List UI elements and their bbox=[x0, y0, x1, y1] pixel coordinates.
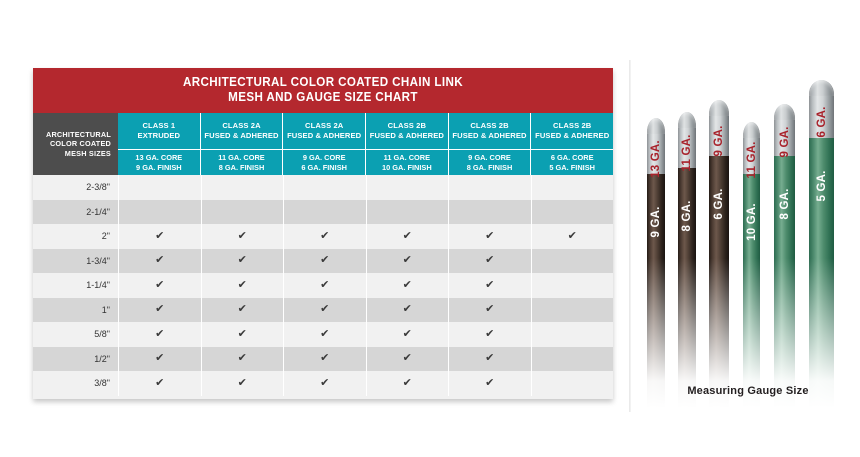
cell-r4-c6 bbox=[531, 249, 614, 274]
cell-r7-c2: ✔ bbox=[201, 322, 284, 347]
check-icon: ✔ bbox=[403, 329, 412, 340]
check-icon: ✔ bbox=[155, 329, 164, 340]
cell-r8-c1: ✔ bbox=[118, 347, 201, 372]
corner-label-line-3: MESH SIZES bbox=[65, 149, 111, 159]
row-label-mesh-size: 1/2" bbox=[33, 347, 118, 372]
chart-title-line-1: ARCHITECTURAL COLOR COATED CHAIN LINK bbox=[53, 75, 592, 90]
cell-r2-c1 bbox=[118, 200, 201, 225]
row-label-mesh-size: 2" bbox=[33, 224, 118, 249]
cell-r2-c4 bbox=[366, 200, 449, 225]
column-core-gauge-6: 6 GA. CORE bbox=[551, 153, 594, 163]
cell-r8-c4: ✔ bbox=[366, 347, 449, 372]
row-cells: ✔✔✔✔✔ bbox=[118, 371, 613, 396]
column-finish-gauge-2: 8 GA. FINISH bbox=[219, 163, 265, 173]
check-icon: ✔ bbox=[238, 280, 247, 291]
check-icon: ✔ bbox=[320, 231, 329, 242]
column-class-name-6: CLASS 2B bbox=[553, 121, 591, 131]
cell-r4-c2: ✔ bbox=[201, 249, 284, 274]
cell-r8-c2: ✔ bbox=[201, 347, 284, 372]
gauge-rod-finish-label-3: 6 GA. bbox=[713, 188, 725, 219]
gauge-rod-4: 11 GA.10 GA. bbox=[743, 122, 760, 408]
check-icon: ✔ bbox=[485, 231, 494, 242]
row-label-mesh-size: 3/8" bbox=[33, 371, 118, 396]
check-icon: ✔ bbox=[320, 255, 329, 266]
cell-r4-c4: ✔ bbox=[366, 249, 449, 274]
row-cells: ✔✔✔✔✔ bbox=[118, 249, 613, 274]
check-icon: ✔ bbox=[485, 353, 494, 364]
check-icon: ✔ bbox=[238, 255, 247, 266]
column-header-6: CLASS 2BFUSED & ADHERED6 GA. CORE5 GA. F… bbox=[530, 113, 613, 175]
gauge-rod-core-label-6: 6 GA. bbox=[816, 106, 828, 137]
cell-r7-c3: ✔ bbox=[283, 322, 366, 347]
row-cells bbox=[118, 200, 613, 225]
cell-r3-c4: ✔ bbox=[366, 224, 449, 249]
check-icon: ✔ bbox=[485, 304, 494, 315]
check-icon: ✔ bbox=[403, 353, 412, 364]
cell-r5-c5: ✔ bbox=[448, 273, 531, 298]
chart-title-banner: ARCHITECTURAL COLOR COATED CHAIN LINK ME… bbox=[33, 68, 613, 113]
cell-r5-c2: ✔ bbox=[201, 273, 284, 298]
column-class-block-3: CLASS 2AFUSED & ADHERED bbox=[283, 113, 365, 150]
check-icon: ✔ bbox=[568, 231, 577, 242]
column-core-gauge-5: 9 GA. CORE bbox=[468, 153, 511, 163]
table-row: 1-3/4"✔✔✔✔✔ bbox=[33, 249, 613, 274]
gauge-rod-core-label-4: 11 GA. bbox=[746, 142, 758, 179]
check-icon: ✔ bbox=[155, 304, 164, 315]
corner-label-line-1: ARCHITECTURAL bbox=[46, 130, 111, 140]
cell-r4-c1: ✔ bbox=[118, 249, 201, 274]
check-icon: ✔ bbox=[155, 231, 164, 242]
column-class-block-6: CLASS 2BFUSED & ADHERED bbox=[531, 113, 613, 150]
cell-r6-c2: ✔ bbox=[201, 298, 284, 323]
column-class-name-3: CLASS 2A bbox=[305, 121, 343, 131]
check-icon: ✔ bbox=[155, 255, 164, 266]
cell-r7-c5: ✔ bbox=[448, 322, 531, 347]
mesh-gauge-size-chart-panel: ARCHITECTURAL COLOR COATED CHAIN LINK ME… bbox=[33, 68, 613, 399]
cell-r9-c1: ✔ bbox=[118, 371, 201, 396]
column-class-sub-2: FUSED & ADHERED bbox=[204, 131, 278, 141]
column-header-3: CLASS 2AFUSED & ADHERED9 GA. CORE6 GA. F… bbox=[282, 113, 365, 175]
gauge-rod-core-label-5: 9 GA. bbox=[779, 127, 791, 158]
cell-r4-c3: ✔ bbox=[283, 249, 366, 274]
check-icon: ✔ bbox=[403, 280, 412, 291]
column-class-name-2: CLASS 2A bbox=[222, 121, 260, 131]
cell-r6-c5: ✔ bbox=[448, 298, 531, 323]
cell-r8-c3: ✔ bbox=[283, 347, 366, 372]
column-header-2: CLASS 2AFUSED & ADHERED11 GA. CORE8 GA. … bbox=[200, 113, 283, 175]
check-icon: ✔ bbox=[238, 329, 247, 340]
cell-r7-c1: ✔ bbox=[118, 322, 201, 347]
table-row: 1-1/4"✔✔✔✔✔ bbox=[33, 273, 613, 298]
column-class-block-1: CLASS 1EXTRUDED bbox=[118, 113, 200, 150]
table-column-headers: CLASS 1EXTRUDED13 GA. CORE9 GA. FINISHCL… bbox=[118, 113, 613, 175]
cell-r6-c4: ✔ bbox=[366, 298, 449, 323]
gauge-rod-1: 13 GA.9 GA. bbox=[647, 118, 665, 408]
chart-title-line-2: MESH AND GAUGE SIZE CHART bbox=[53, 90, 592, 105]
corner-label-line-2: COLOR COATED bbox=[50, 139, 111, 149]
cell-r1-c6 bbox=[531, 175, 614, 200]
cell-r6-c6 bbox=[531, 298, 614, 323]
table-row: 1/2"✔✔✔✔✔ bbox=[33, 347, 613, 372]
row-label-mesh-size: 2-1/4" bbox=[33, 200, 118, 225]
row-cells: ✔✔✔✔✔ bbox=[118, 347, 613, 372]
column-finish-gauge-1: 9 GA. FINISH bbox=[136, 163, 182, 173]
row-label-mesh-size: 1" bbox=[33, 298, 118, 323]
check-icon: ✔ bbox=[485, 378, 494, 389]
column-finish-gauge-3: 6 GA. FINISH bbox=[301, 163, 347, 173]
cell-r2-c3 bbox=[283, 200, 366, 225]
check-icon: ✔ bbox=[155, 353, 164, 364]
check-icon: ✔ bbox=[485, 255, 494, 266]
column-core-gauge-2: 11 GA. CORE bbox=[218, 153, 264, 163]
cell-r9-c6 bbox=[531, 371, 614, 396]
check-icon: ✔ bbox=[320, 280, 329, 291]
column-class-sub-1: EXTRUDED bbox=[138, 131, 181, 141]
gauge-rod-core-label-3: 9 GA. bbox=[713, 125, 725, 156]
table-row: 2-1/4" bbox=[33, 200, 613, 225]
row-label-mesh-size: 5/8" bbox=[33, 322, 118, 347]
cell-r9-c5: ✔ bbox=[448, 371, 531, 396]
column-class-name-5: CLASS 2B bbox=[470, 121, 508, 131]
column-gauge-block-3: 9 GA. CORE6 GA. FINISH bbox=[283, 150, 365, 175]
column-gauge-block-1: 13 GA. CORE9 GA. FINISH bbox=[118, 150, 200, 175]
cell-r7-c4: ✔ bbox=[366, 322, 449, 347]
cell-r9-c3: ✔ bbox=[283, 371, 366, 396]
cell-r1-c2 bbox=[201, 175, 284, 200]
column-class-sub-6: FUSED & ADHERED bbox=[535, 131, 609, 141]
row-cells: ✔✔✔✔✔ bbox=[118, 322, 613, 347]
cell-r3-c2: ✔ bbox=[201, 224, 284, 249]
column-class-name-1: CLASS 1 bbox=[142, 121, 175, 131]
check-icon: ✔ bbox=[485, 329, 494, 340]
table-header-row: ARCHITECTURAL COLOR COATED MESH SIZES CL… bbox=[33, 113, 613, 175]
column-header-1: CLASS 1EXTRUDED13 GA. CORE9 GA. FINISH bbox=[118, 113, 200, 175]
column-core-gauge-3: 9 GA. CORE bbox=[303, 153, 346, 163]
row-cells: ✔✔✔✔✔ bbox=[118, 298, 613, 323]
check-icon: ✔ bbox=[238, 304, 247, 315]
row-cells: ✔✔✔✔✔✔ bbox=[118, 224, 613, 249]
column-header-4: CLASS 2BFUSED & ADHERED11 GA. CORE10 GA.… bbox=[365, 113, 448, 175]
gauge-rod-core-label-2: 11 GA. bbox=[681, 134, 693, 171]
check-icon: ✔ bbox=[403, 304, 412, 315]
check-icon: ✔ bbox=[403, 378, 412, 389]
gauge-rod-finish-label-1: 9 GA. bbox=[650, 206, 662, 237]
column-class-sub-5: FUSED & ADHERED bbox=[452, 131, 526, 141]
cell-r3-c1: ✔ bbox=[118, 224, 201, 249]
row-cells: ✔✔✔✔✔ bbox=[118, 273, 613, 298]
gauge-rod-finish-label-2: 8 GA. bbox=[681, 200, 693, 231]
column-gauge-block-5: 9 GA. CORE8 GA. FINISH bbox=[449, 150, 531, 175]
column-gauge-block-6: 6 GA. CORE5 GA. FINISH bbox=[531, 150, 613, 175]
table-row: 5/8"✔✔✔✔✔ bbox=[33, 322, 613, 347]
check-icon: ✔ bbox=[320, 353, 329, 364]
column-class-block-4: CLASS 2BFUSED & ADHERED bbox=[366, 113, 448, 150]
cell-r6-c1: ✔ bbox=[118, 298, 201, 323]
gauge-rod-finish-label-5: 8 GA. bbox=[779, 188, 791, 219]
gauge-rod-diagram: 13 GA.9 GA.11 GA.8 GA.9 GA.6 GA.11 GA.10… bbox=[636, 58, 860, 408]
check-icon: ✔ bbox=[403, 255, 412, 266]
cell-r8-c5: ✔ bbox=[448, 347, 531, 372]
table-row: 3/8"✔✔✔✔✔ bbox=[33, 371, 613, 396]
check-icon: ✔ bbox=[155, 280, 164, 291]
gauge-rod-finish-label-4: 10 GA. bbox=[746, 203, 758, 241]
check-icon: ✔ bbox=[238, 353, 247, 364]
cell-r6-c3: ✔ bbox=[283, 298, 366, 323]
column-class-sub-3: FUSED & ADHERED bbox=[287, 131, 361, 141]
gauge-diagram-caption: Measuring Gauge Size bbox=[636, 385, 860, 397]
row-cells bbox=[118, 175, 613, 200]
panel-divider bbox=[629, 60, 631, 412]
row-label-mesh-size: 2-3/8" bbox=[33, 175, 118, 200]
column-finish-gauge-4: 10 GA. FINISH bbox=[382, 163, 432, 173]
check-icon: ✔ bbox=[238, 378, 247, 389]
table-row: 1"✔✔✔✔✔ bbox=[33, 298, 613, 323]
table-row: 2-3/8" bbox=[33, 175, 613, 200]
cell-r2-c6 bbox=[531, 200, 614, 225]
check-icon: ✔ bbox=[320, 378, 329, 389]
check-icon: ✔ bbox=[320, 329, 329, 340]
cell-r1-c5 bbox=[448, 175, 531, 200]
column-class-block-5: CLASS 2BFUSED & ADHERED bbox=[449, 113, 531, 150]
gauge-rod-core-label-1: 13 GA. bbox=[650, 140, 662, 178]
gauge-rod-2: 11 GA.8 GA. bbox=[678, 112, 696, 408]
cell-r7-c6 bbox=[531, 322, 614, 347]
column-gauge-block-2: 11 GA. CORE8 GA. FINISH bbox=[201, 150, 283, 175]
column-core-gauge-4: 11 GA. CORE bbox=[384, 153, 430, 163]
gauge-rod-3: 9 GA.6 GA. bbox=[709, 100, 729, 408]
cell-r5-c4: ✔ bbox=[366, 273, 449, 298]
gauge-rod-finish-label-6: 5 GA. bbox=[816, 170, 828, 201]
column-gauge-block-4: 11 GA. CORE10 GA. FINISH bbox=[366, 150, 448, 175]
gauge-rod-5: 9 GA.8 GA. bbox=[774, 104, 795, 408]
table-corner-label: ARCHITECTURAL COLOR COATED MESH SIZES bbox=[33, 113, 118, 175]
gauge-rod-6: 6 GA.5 GA. bbox=[809, 80, 834, 408]
cell-r5-c6 bbox=[531, 273, 614, 298]
cell-r3-c5: ✔ bbox=[448, 224, 531, 249]
table-row: 2"✔✔✔✔✔✔ bbox=[33, 224, 613, 249]
column-class-sub-4: FUSED & ADHERED bbox=[370, 131, 444, 141]
cell-r5-c3: ✔ bbox=[283, 273, 366, 298]
cell-r9-c4: ✔ bbox=[366, 371, 449, 396]
cell-r5-c1: ✔ bbox=[118, 273, 201, 298]
cell-r2-c2 bbox=[201, 200, 284, 225]
row-label-mesh-size: 1-3/4" bbox=[33, 249, 118, 274]
column-finish-gauge-6: 5 GA. FINISH bbox=[549, 163, 595, 173]
row-label-mesh-size: 1-1/4" bbox=[33, 273, 118, 298]
cell-r9-c2: ✔ bbox=[201, 371, 284, 396]
check-icon: ✔ bbox=[403, 231, 412, 242]
column-header-5: CLASS 2BFUSED & ADHERED9 GA. CORE8 GA. F… bbox=[448, 113, 531, 175]
column-class-block-2: CLASS 2AFUSED & ADHERED bbox=[201, 113, 283, 150]
check-icon: ✔ bbox=[320, 304, 329, 315]
table-body: 2-3/8"2-1/4"2"✔✔✔✔✔✔1-3/4"✔✔✔✔✔1-1/4"✔✔✔… bbox=[33, 175, 613, 396]
cell-r3-c6: ✔ bbox=[531, 224, 614, 249]
column-core-gauge-1: 13 GA. CORE bbox=[135, 153, 182, 163]
cell-r1-c3 bbox=[283, 175, 366, 200]
check-icon: ✔ bbox=[155, 378, 164, 389]
cell-r1-c1 bbox=[118, 175, 201, 200]
cell-r8-c6 bbox=[531, 347, 614, 372]
cell-r4-c5: ✔ bbox=[448, 249, 531, 274]
cell-r3-c3: ✔ bbox=[283, 224, 366, 249]
check-icon: ✔ bbox=[238, 231, 247, 242]
cell-r2-c5 bbox=[448, 200, 531, 225]
column-class-name-4: CLASS 2B bbox=[388, 121, 426, 131]
check-icon: ✔ bbox=[485, 280, 494, 291]
cell-r1-c4 bbox=[366, 175, 449, 200]
column-finish-gauge-5: 8 GA. FINISH bbox=[467, 163, 513, 173]
